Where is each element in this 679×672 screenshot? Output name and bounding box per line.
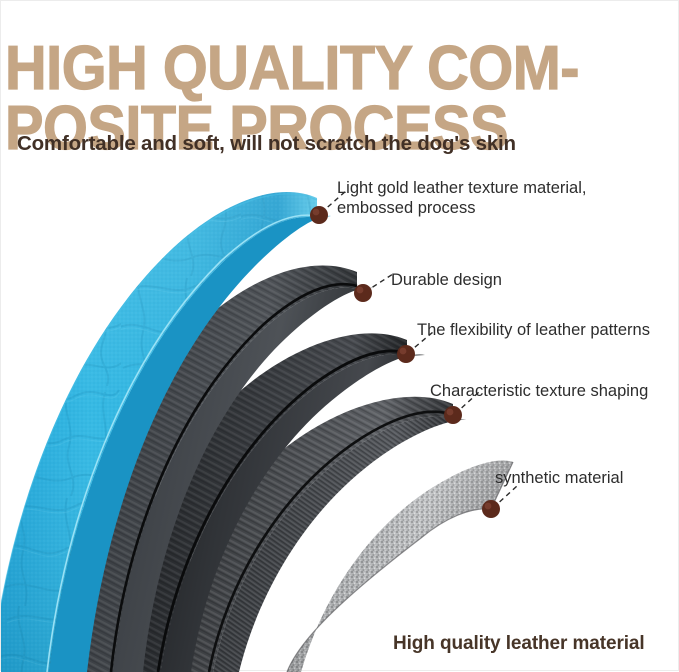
callout-label-top-layer: Light gold leather texture material, emb… (337, 178, 586, 218)
material-layers-illustration (1, 166, 679, 672)
callout-label-durable: Durable design (391, 270, 502, 290)
footer-caption: High quality leather material (393, 633, 645, 655)
page-subtitle: Comfortable and soft, will not scratch t… (17, 132, 516, 156)
callout-label-texture: Characteristic texture shaping (430, 381, 648, 401)
callout-label-synthetic: synthetic material (495, 468, 623, 488)
callout-label-flexibility: The flexibility of leather patterns (417, 320, 650, 340)
infographic-page: HIGH QUALITY COM- POSITE PROCESS Comfort… (1, 1, 678, 670)
